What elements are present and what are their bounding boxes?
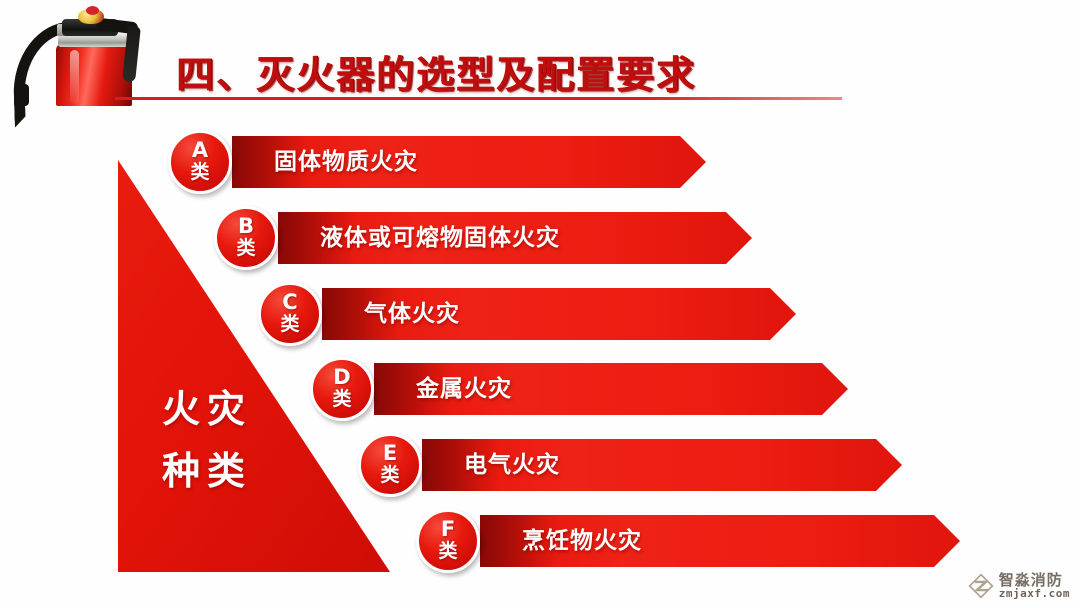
page-title: 四、灭火器的选型及配置要求 (176, 44, 696, 99)
class-badge-a[interactable]: A 类 (168, 130, 232, 194)
watermark-name: 智淼消防 (999, 573, 1070, 589)
class-badge-c-letter: C (261, 291, 319, 313)
category-row-b[interactable]: 液体或可熔物固体火灾 (278, 212, 752, 264)
class-badge-f-letter: F (419, 518, 477, 540)
class-badge-c[interactable]: C 类 (258, 282, 322, 346)
triangle-label: 火灾 种类 (162, 378, 292, 502)
class-badge-b-unit: 类 (217, 237, 275, 259)
class-badge-e-unit: 类 (361, 464, 419, 486)
fire-extinguisher-icon (0, 0, 160, 104)
category-row-c[interactable]: 气体火灾 (322, 288, 796, 340)
class-badge-a-unit: 类 (171, 161, 229, 183)
category-row-e[interactable]: 电气火灾 (422, 439, 902, 491)
category-row-a[interactable]: 固体物质火灾 (232, 136, 706, 188)
class-badge-a-letter: A (171, 139, 229, 161)
class-badge-e-letter: E (361, 442, 419, 464)
arrow-bar-e (422, 439, 902, 491)
triangle-label-line-2: 种类 (162, 440, 292, 502)
arrow-bar-d (374, 363, 848, 415)
category-row-f[interactable]: 烹饪物火灾 (480, 515, 960, 567)
category-row-d[interactable]: 金属火灾 (374, 363, 848, 415)
extinguisher-safety-pin (86, 6, 99, 15)
arrow-bar-b (278, 212, 752, 264)
class-badge-d-letter: D (313, 366, 371, 388)
arrow-bar-f (480, 515, 960, 567)
zhimiao-logo-icon (968, 573, 994, 599)
class-badge-b[interactable]: B 类 (214, 206, 278, 270)
arrow-bar-a (232, 136, 706, 188)
watermark: 智淼消防 zmjaxf.com (968, 573, 1070, 600)
watermark-url: zmjaxf.com (999, 588, 1070, 600)
class-badge-f[interactable]: F 类 (416, 509, 480, 573)
class-badge-f-unit: 类 (419, 540, 477, 562)
class-badge-d-unit: 类 (313, 388, 371, 410)
arrow-bar-c (322, 288, 796, 340)
class-badge-e[interactable]: E 类 (358, 433, 422, 497)
class-badge-d[interactable]: D 类 (310, 357, 374, 421)
class-badge-c-unit: 类 (261, 313, 319, 335)
title-underline (115, 97, 842, 100)
class-badge-b-letter: B (217, 215, 275, 237)
extinguisher-nozzle (16, 84, 29, 106)
triangle-label-line-1: 火灾 (162, 378, 292, 440)
watermark-text: 智淼消防 zmjaxf.com (999, 573, 1070, 600)
slide-canvas: 四、灭火器的选型及配置要求 火灾 种类 固体物质火灾 A 类 液体或可熔物固体火… (0, 0, 1080, 608)
